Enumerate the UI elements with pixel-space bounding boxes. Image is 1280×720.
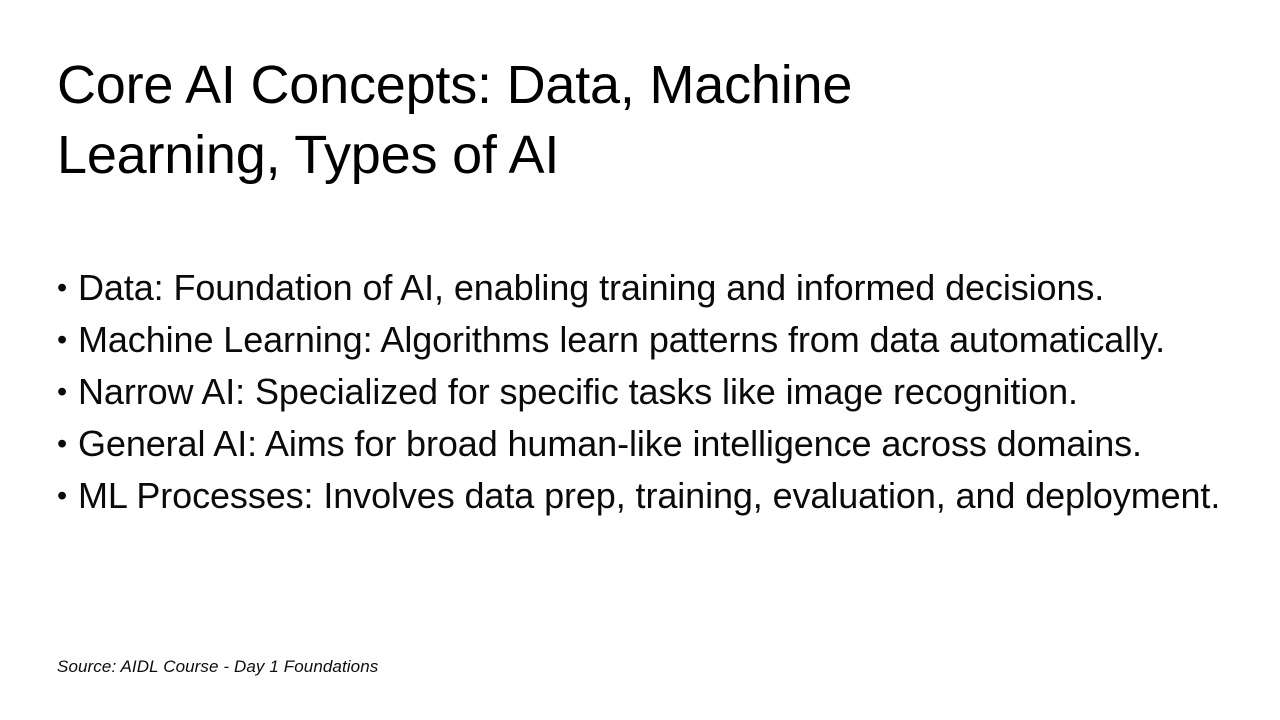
list-item-label: Data: Foundation of AI, enabling trainin… <box>78 262 1104 314</box>
list-item: • ML Processes: Involves data prep, trai… <box>57 470 1227 522</box>
list-item: • General AI: Aims for broad human-like … <box>57 418 1227 470</box>
slide-canvas: Core AI Concepts: Data, Machine Learning… <box>0 0 1280 720</box>
source-placeholder: Source: AIDL Course - Day 1 Foundations <box>57 655 378 679</box>
list-item-label: ML Processes: Involves data prep, traini… <box>78 470 1220 522</box>
bullet-point-icon: • <box>57 418 78 470</box>
bullet-list: • Data: Foundation of AI, enabling train… <box>57 262 1227 522</box>
page-title: Core AI Concepts: Data, Machine Learning… <box>57 50 1057 190</box>
list-item: • Data: Foundation of AI, enabling train… <box>57 262 1227 314</box>
list-item-label: General AI: Aims for broad human-like in… <box>78 418 1142 470</box>
bullet-point-icon: • <box>57 366 78 418</box>
source-caption: Source: AIDL Course - Day 1 Foundations <box>57 655 378 679</box>
bullet-point-icon: • <box>57 262 78 314</box>
list-item-label: Narrow AI: Specialized for specific task… <box>78 366 1078 418</box>
list-item: • Machine Learning: Algorithms learn pat… <box>57 314 1227 366</box>
list-item-label: Machine Learning: Algorithms learn patte… <box>78 314 1165 366</box>
bullet-point-icon: • <box>57 314 78 366</box>
title-placeholder: Core AI Concepts: Data, Machine Learning… <box>57 50 1057 190</box>
content-placeholder: • Data: Foundation of AI, enabling train… <box>57 262 1227 522</box>
bullet-point-icon: • <box>57 470 78 522</box>
list-item: • Narrow AI: Specialized for specific ta… <box>57 366 1227 418</box>
